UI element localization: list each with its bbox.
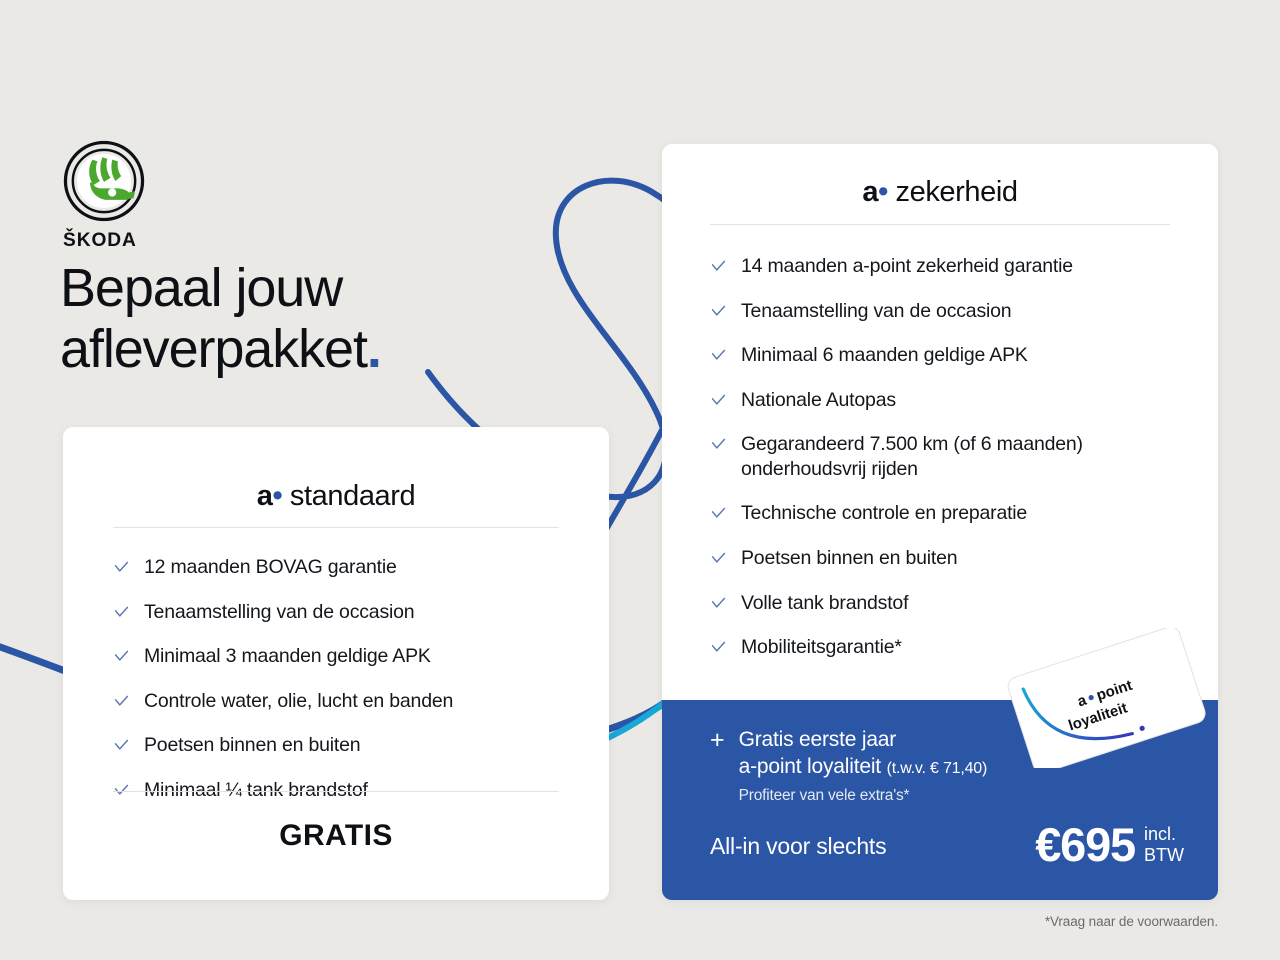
list-item-label: Technische controle en preparatie [741, 501, 1027, 526]
check-icon [710, 595, 727, 612]
list-item: Technische controle en preparatie [710, 501, 1194, 526]
list-item: Volle tank brandstof [710, 591, 1194, 616]
list-item-label: Volle tank brandstof [741, 591, 908, 616]
standaard-title-a: a [257, 480, 273, 512]
list-item: Tenaamstelling van de occasion [113, 600, 579, 625]
package-card-zekerheid[interactable]: a• zekerheid 14 maanden a-point zekerhei… [662, 144, 1218, 900]
check-icon [710, 505, 727, 522]
headline-line-1: Bepaal jouw [60, 258, 342, 318]
list-item-label: 12 maanden BOVAG garantie [144, 555, 397, 580]
list-item: Tenaamstelling van de occasion [710, 299, 1194, 324]
list-item: Mobiliteitsgarantie* [710, 635, 1194, 660]
list-item: Minimaal 6 maanden geldige APK [710, 343, 1194, 368]
list-item: Nationale Autopas [710, 388, 1194, 413]
price-note-line-1: incl. [1144, 824, 1176, 844]
package-card-standaard[interactable]: a• standaard 12 maanden BOVAG garantie T… [63, 427, 609, 900]
skoda-logo-icon [63, 140, 145, 222]
list-item: Gegarandeerd 7.500 km (of 6 maanden) ond… [710, 432, 1194, 481]
poster-stage: ŠKODA Bepaal jouwafleverpakket. a• stand… [0, 0, 1280, 960]
brand-block: ŠKODA [63, 140, 155, 250]
standaard-card-title: a• standaard [63, 480, 609, 513]
list-item: Poetsen binnen en buiten [113, 733, 579, 758]
standaard-divider-bottom [113, 791, 559, 792]
headline-period: . [367, 319, 381, 379]
footnote: *Vraag naar de voorwaarden. [1045, 914, 1218, 929]
price-block: €695 incl. BTW [1035, 821, 1184, 868]
promo-line-1: Gratis eerste jaar [739, 726, 988, 753]
skoda-wordmark: ŠKODA [63, 228, 155, 250]
promo-block: + Gratis eerste jaar a-point loyaliteit … [710, 726, 987, 806]
zekerheid-title-dot: • [878, 176, 888, 208]
list-item-label: Gegarandeerd 7.500 km (of 6 maanden) ond… [741, 432, 1194, 481]
list-item-label: Tenaamstelling van de occasion [144, 600, 414, 625]
check-icon [710, 550, 727, 567]
check-icon [113, 693, 130, 710]
check-icon [710, 258, 727, 275]
list-item: 14 maanden a-point zekerheid garantie [710, 254, 1194, 279]
price-amount: €695 [1035, 821, 1135, 868]
check-icon [113, 604, 130, 621]
list-item-label: Tenaamstelling van de occasion [741, 299, 1011, 324]
zekerheid-title-a: a [862, 176, 878, 208]
promo-value: (t.w.v. € 71,40) [887, 760, 988, 777]
price-note: incl. BTW [1144, 824, 1184, 864]
standaard-title-dot: • [272, 480, 282, 512]
check-icon [710, 303, 727, 320]
list-item-label: 14 maanden a-point zekerheid garantie [741, 254, 1073, 279]
zekerheid-price-footer: + Gratis eerste jaar a-point loyaliteit … [662, 700, 1218, 900]
list-item-label: Mobiliteitsgarantie* [741, 635, 902, 660]
check-icon [710, 436, 727, 453]
headline-line-2: afleverpakket [60, 319, 367, 379]
plus-icon: + [710, 728, 725, 753]
check-icon [710, 347, 727, 364]
list-item-label: Poetsen binnen en buiten [144, 733, 360, 758]
promo-subtext: Profiteer van vele extra's* [739, 786, 988, 806]
allin-label: All-in voor slechts [710, 833, 886, 860]
check-icon [710, 392, 727, 409]
svg-text:ŠKODA: ŠKODA [63, 229, 137, 250]
list-item: 12 maanden BOVAG garantie [113, 555, 579, 580]
list-item: Minimaal 3 maanden geldige APK [113, 644, 579, 669]
zekerheid-card-title: a• zekerheid [662, 176, 1218, 209]
zekerheid-divider [710, 224, 1170, 225]
standaard-feature-list: 12 maanden BOVAG garantie Tenaamstelling… [113, 555, 579, 822]
check-icon [113, 648, 130, 665]
list-item-label: Poetsen binnen en buiten [741, 546, 957, 571]
page-title: Bepaal jouwafleverpakket. [60, 258, 381, 380]
zekerheid-feature-list: 14 maanden a-point zekerheid garantie Te… [710, 254, 1194, 680]
list-item: Poetsen binnen en buiten [710, 546, 1194, 571]
zekerheid-title-rest: zekerheid [896, 176, 1018, 208]
list-item-label: Controle water, olie, lucht en banden [144, 689, 453, 714]
check-icon [113, 559, 130, 576]
list-item: Controle water, olie, lucht en banden [113, 689, 579, 714]
check-icon [113, 737, 130, 754]
standaard-price: GRATIS [63, 819, 609, 853]
list-item-label: Nationale Autopas [741, 388, 896, 413]
list-item-label: Minimaal 6 maanden geldige APK [741, 343, 1028, 368]
promo-line-2: a-point loyaliteit [739, 755, 881, 778]
list-item-label: Minimaal 3 maanden geldige APK [144, 644, 431, 669]
check-icon [710, 639, 727, 656]
standaard-divider-top [113, 527, 559, 528]
standaard-title-rest: standaard [290, 480, 415, 512]
price-note-line-2: BTW [1144, 845, 1184, 865]
